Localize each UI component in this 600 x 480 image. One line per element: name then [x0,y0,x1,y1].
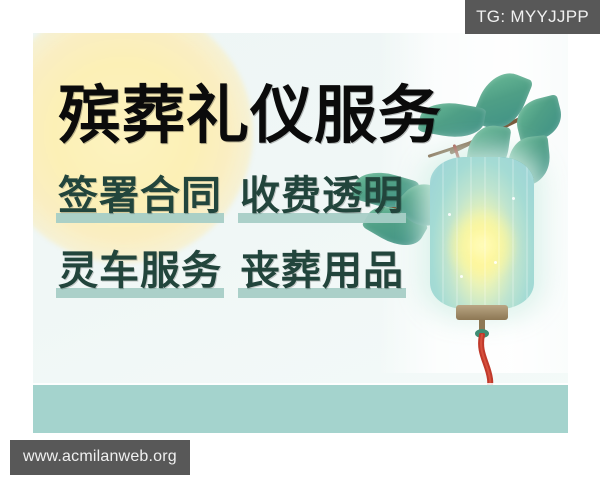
site-url-watermark: www.acmilanweb.org [10,440,190,475]
poster-canvas: 殡葬礼仪服务 签署合同 收费透明 灵车服务 丧葬用品 [33,33,568,433]
sparkle-icon [494,261,497,264]
service-item-transparent-pricing: 收费透明 [240,176,404,223]
service-item-hearse: 灵车服务 [58,251,222,298]
service-item-label: 丧葬用品 [240,248,404,293]
service-item-funeral-supplies: 丧葬用品 [240,251,404,298]
lantern-base-icon [456,305,508,320]
sparkle-icon [512,197,515,200]
page-title: 殡葬礼仪服务 [58,85,458,148]
service-item-label: 签署合同 [58,173,222,218]
service-row-2: 灵车服务 丧葬用品 [58,251,458,298]
service-row-1: 签署合同 收费透明 [58,176,458,223]
bottom-teal-band [33,385,568,433]
service-item-label: 收费透明 [240,173,404,218]
service-item-label: 灵车服务 [58,248,222,293]
sparkle-icon [460,275,463,278]
poster-text-block: 殡葬礼仪服务 签署合同 收费透明 灵车服务 丧葬用品 [58,85,458,298]
telegram-handle-watermark: TG: MYYJJPP [465,0,600,34]
service-item-contract: 签署合同 [58,176,222,223]
